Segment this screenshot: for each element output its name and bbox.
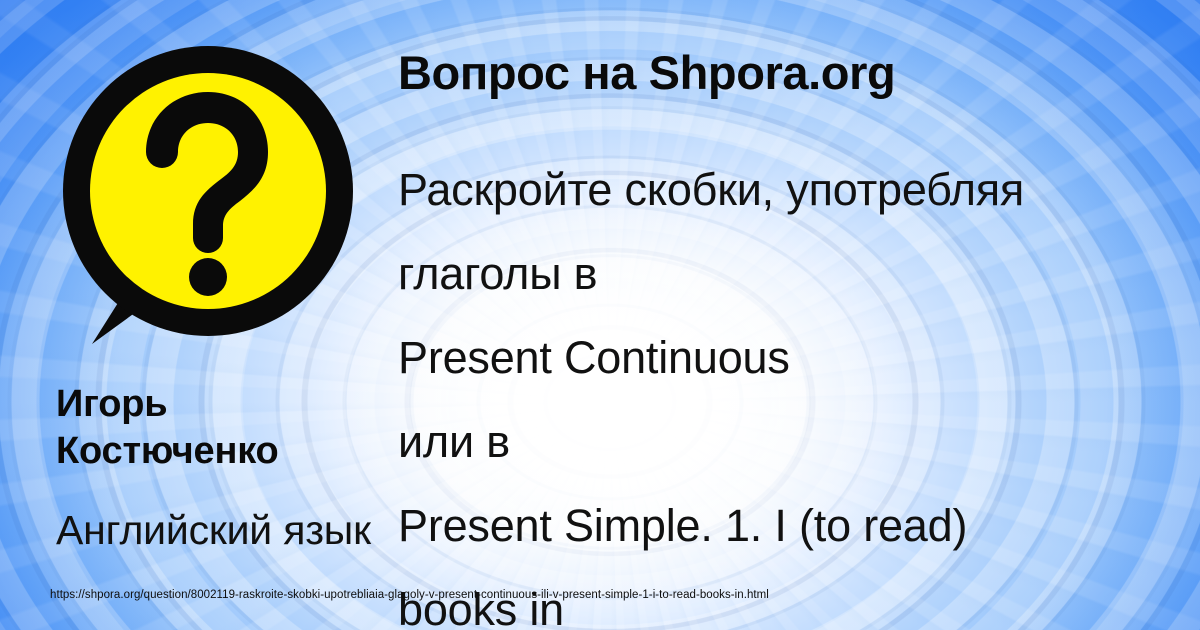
question-line-1: Раскройте скобки, употребляя: [398, 148, 1198, 232]
question-mark-dot: [189, 258, 227, 296]
subject-label: Английский язык: [56, 505, 371, 555]
card-content: Вопрос на Shpora.org Раскройте скобки, у…: [0, 0, 1200, 630]
source-url: https://shpora.org/question/8002119-rask…: [50, 589, 769, 601]
question-line-4: или в: [398, 400, 1198, 484]
page-title: Вопрос на Shpora.org: [398, 48, 1188, 99]
question-text: Раскройте скобки, употребляя глаголы в P…: [398, 148, 1198, 630]
author-name: Игорь Костюченко: [56, 381, 446, 475]
author-last-name: Костюченко: [56, 428, 446, 475]
question-line-5: Present Simple. 1. I (to read): [398, 484, 1198, 568]
question-line-2: глаголы в: [398, 232, 1198, 316]
question-speech-bubble-icon: [62, 44, 354, 344]
question-share-card: Вопрос на Shpora.org Раскройте скобки, у…: [0, 0, 1200, 630]
author-first-name: Игорь: [56, 381, 446, 428]
question-line-3: Present Continuous: [398, 316, 1198, 400]
